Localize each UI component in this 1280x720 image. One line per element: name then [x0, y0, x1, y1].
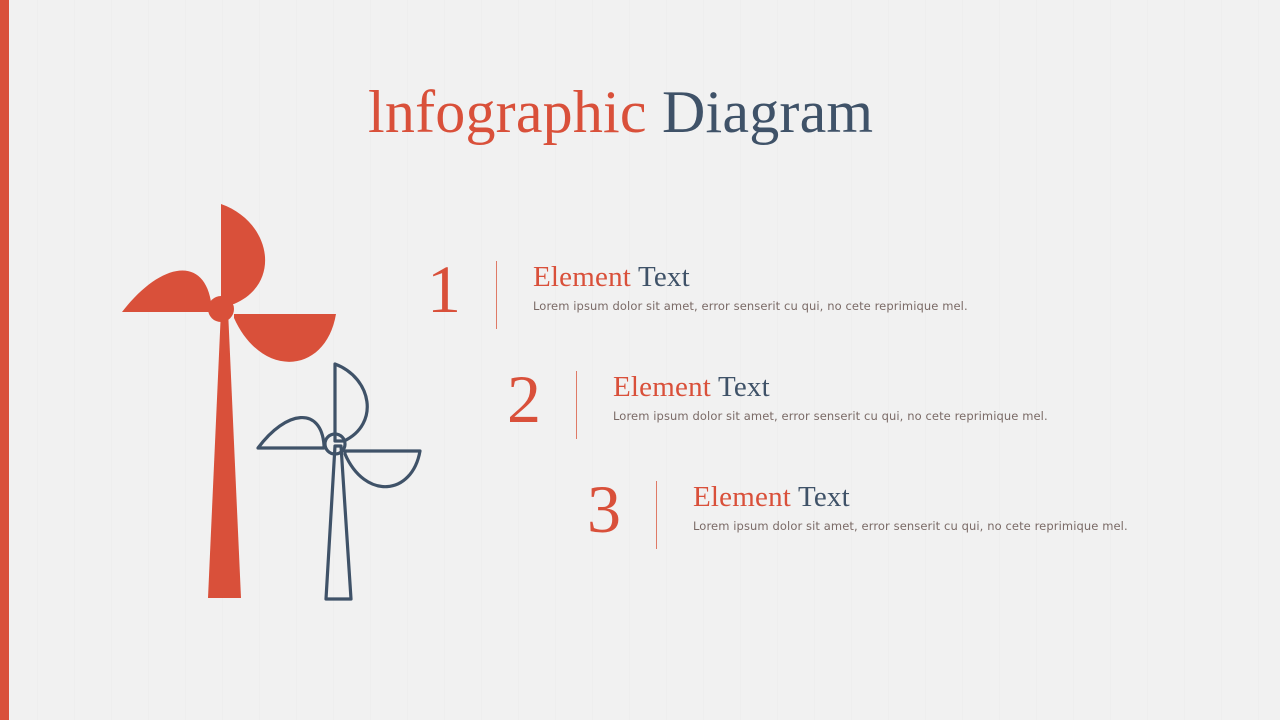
- item-body: Element Text Lorem ipsum dolor sit amet,…: [577, 366, 1048, 424]
- item-number: 1: [416, 256, 472, 320]
- element-list: 1 Element Text Lorem ipsum dolor sit ame…: [0, 0, 1280, 720]
- item-description: Lorem ipsum dolor sit amet, error senser…: [613, 408, 1048, 424]
- item-heading: Element Text: [533, 260, 968, 294]
- list-item[interactable]: 2 Element Text Lorem ipsum dolor sit ame…: [496, 366, 1048, 456]
- item-heading: Element Text: [693, 480, 1128, 514]
- list-item[interactable]: 3 Element Text Lorem ipsum dolor sit ame…: [576, 476, 1128, 566]
- item-heading-accent: Element: [533, 261, 631, 293]
- list-item[interactable]: 1 Element Text Lorem ipsum dolor sit ame…: [416, 256, 968, 346]
- item-description: Lorem ipsum dolor sit amet, error senser…: [693, 518, 1128, 534]
- item-number: 3: [576, 476, 632, 540]
- item-heading-dark: Text: [638, 261, 690, 293]
- item-heading-accent: Element: [693, 481, 791, 513]
- item-description: Lorem ipsum dolor sit amet, error senser…: [533, 298, 968, 314]
- item-heading-dark: Text: [718, 371, 770, 403]
- item-heading-accent: Element: [613, 371, 711, 403]
- slide-canvas: lnfographic Diagram: [0, 0, 1280, 720]
- item-body: Element Text Lorem ipsum dolor sit amet,…: [657, 476, 1128, 534]
- item-number: 2: [496, 366, 552, 430]
- item-body: Element Text Lorem ipsum dolor sit amet,…: [497, 256, 968, 314]
- item-heading-dark: Text: [798, 481, 850, 513]
- item-heading: Element Text: [613, 370, 1048, 404]
